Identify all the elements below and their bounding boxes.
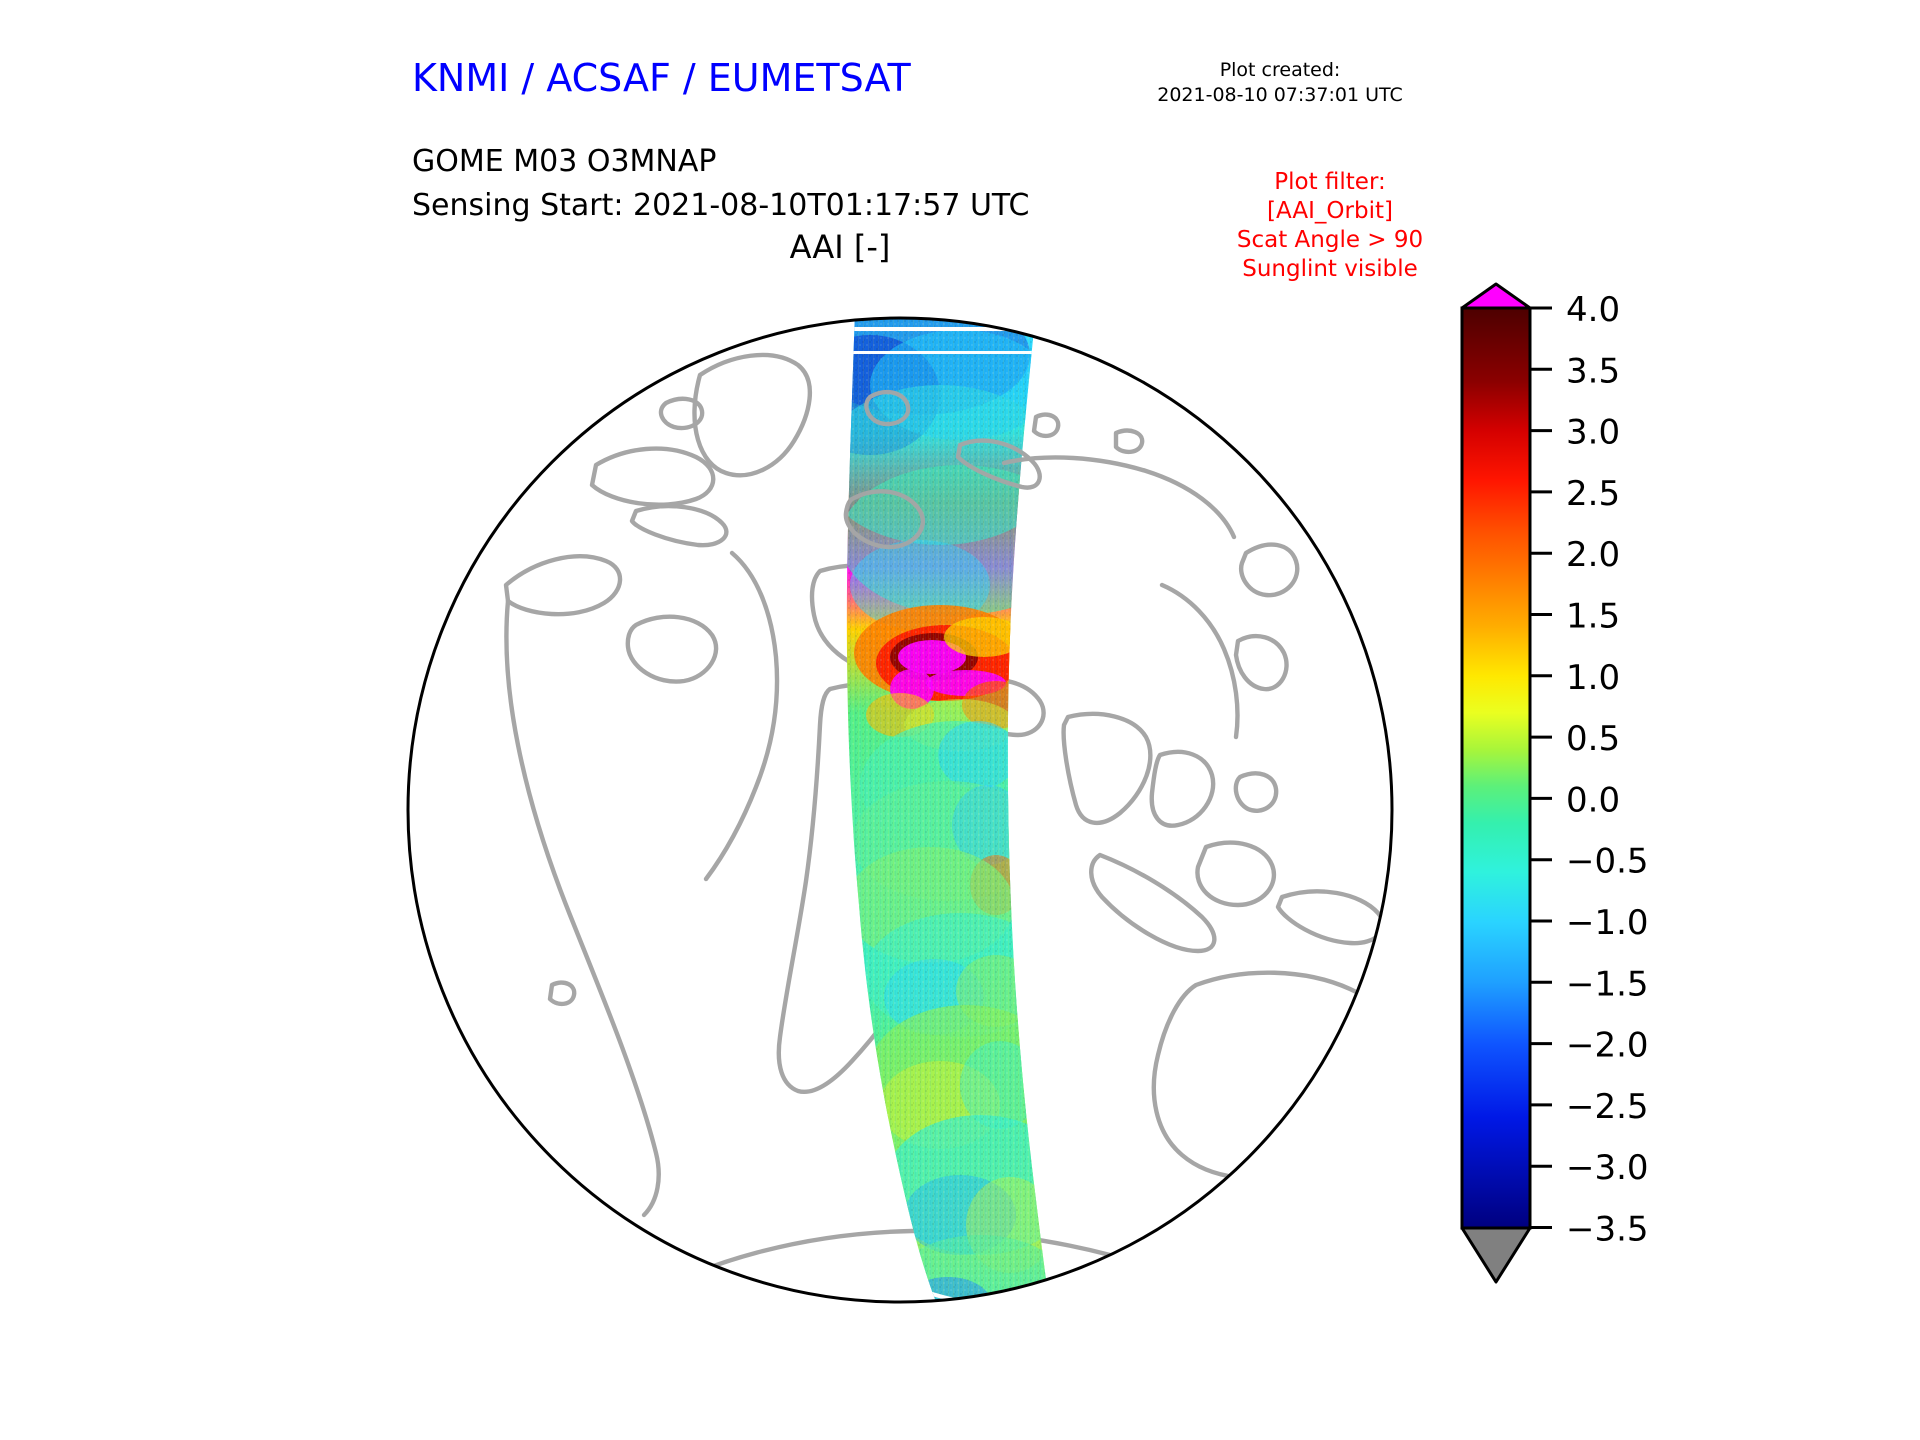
colorbar-tick-label: −3.0 <box>1566 1148 1649 1188</box>
dataset-name: GOME M03 O3MNAP <box>412 140 1029 184</box>
plot-filter-label: Plot filter: <box>1180 168 1480 197</box>
colorbar-tick-label: 1.5 <box>1566 597 1620 637</box>
map-panel <box>400 285 1400 1335</box>
colorbar-tick: 3.5 <box>1530 351 1620 391</box>
colorbar-tick: −1.5 <box>1530 964 1649 1004</box>
colorbar-tick: 2.5 <box>1530 474 1620 514</box>
colorbar-tick: −0.5 <box>1530 842 1649 882</box>
colorbar-tick-label: −3.5 <box>1566 1210 1649 1250</box>
colorbar-under-arrow <box>1462 1228 1530 1282</box>
plot-filter-condition: Scat Angle > 90 <box>1180 226 1480 255</box>
plot-created-label: Plot created: <box>1100 58 1460 83</box>
plot-created-timestamp: 2021-08-10 07:37:01 UTC <box>1100 83 1460 108</box>
colorbar-tick: −1.0 <box>1530 903 1649 943</box>
colorbar-tick: 0.0 <box>1530 780 1620 820</box>
colorbar-panel: 4.0 3.5 3.0 2.5 2.0 1.5 1.0 0.5 0.0 <box>1432 282 1762 1332</box>
colorbar-tick-label: 0.0 <box>1566 780 1620 820</box>
colorbar-tick-label: 2.0 <box>1566 535 1620 575</box>
colorbar-tick: 4.0 <box>1530 290 1620 330</box>
sensing-start: Sensing Start: 2021-08-10T01:17:57 UTC <box>412 184 1029 228</box>
colorbar-tick: 3.0 <box>1530 413 1620 453</box>
colorbar-tick-label: −2.0 <box>1566 1026 1649 1066</box>
colorbar-tick: −2.0 <box>1530 1026 1649 1066</box>
colorbar-tick-label: 4.0 <box>1566 290 1620 330</box>
colorbar: 4.0 3.5 3.0 2.5 2.0 1.5 1.0 0.5 0.0 <box>1432 282 1762 1332</box>
colorbar-tick: 1.5 <box>1530 597 1620 637</box>
colorbar-tick: −3.5 <box>1530 1210 1649 1250</box>
colorbar-tick-label: −0.5 <box>1566 842 1649 882</box>
colorbar-gradient-bar <box>1462 308 1530 1228</box>
organisation-title: KNMI / ACSAF / EUMETSAT <box>412 56 911 100</box>
globe-map <box>400 285 1400 1335</box>
dataset-info-block: GOME M03 O3MNAP Sensing Start: 2021-08-1… <box>412 140 1029 228</box>
colorbar-tick-label: −2.5 <box>1566 1087 1649 1127</box>
colorbar-tick: 0.5 <box>1530 719 1620 759</box>
colorbar-tick-label: 1.0 <box>1566 658 1620 698</box>
colorbar-tick: 2.0 <box>1530 535 1620 575</box>
colorbar-tick: 1.0 <box>1530 658 1620 698</box>
plot-filter-name: [AAI_Orbit] <box>1180 197 1480 226</box>
quantity-title: AAI [-] <box>680 228 1000 266</box>
plot-created-block: Plot created: 2021-08-10 07:37:01 UTC <box>1100 58 1460 108</box>
colorbar-tick-label: 3.5 <box>1566 351 1620 391</box>
colorbar-tick-label: 3.0 <box>1566 413 1620 453</box>
colorbar-tick: −2.5 <box>1530 1087 1649 1127</box>
plot-page: KNMI / ACSAF / EUMETSAT Plot created: 20… <box>0 0 1920 1440</box>
colorbar-over-arrow <box>1462 284 1530 308</box>
colorbar-tick-label: 2.5 <box>1566 474 1620 514</box>
colorbar-tick: −3.0 <box>1530 1148 1649 1188</box>
colorbar-ticks: 4.0 3.5 3.0 2.5 2.0 1.5 1.0 0.5 0.0 <box>1530 290 1649 1250</box>
colorbar-tick-label: −1.5 <box>1566 964 1649 1004</box>
colorbar-tick-label: 0.5 <box>1566 719 1620 759</box>
colorbar-tick-label: −1.0 <box>1566 903 1649 943</box>
plot-filter-note: Sunglint visible <box>1180 255 1480 284</box>
plot-filter-block: Plot filter: [AAI_Orbit] Scat Angle > 90… <box>1180 168 1480 284</box>
